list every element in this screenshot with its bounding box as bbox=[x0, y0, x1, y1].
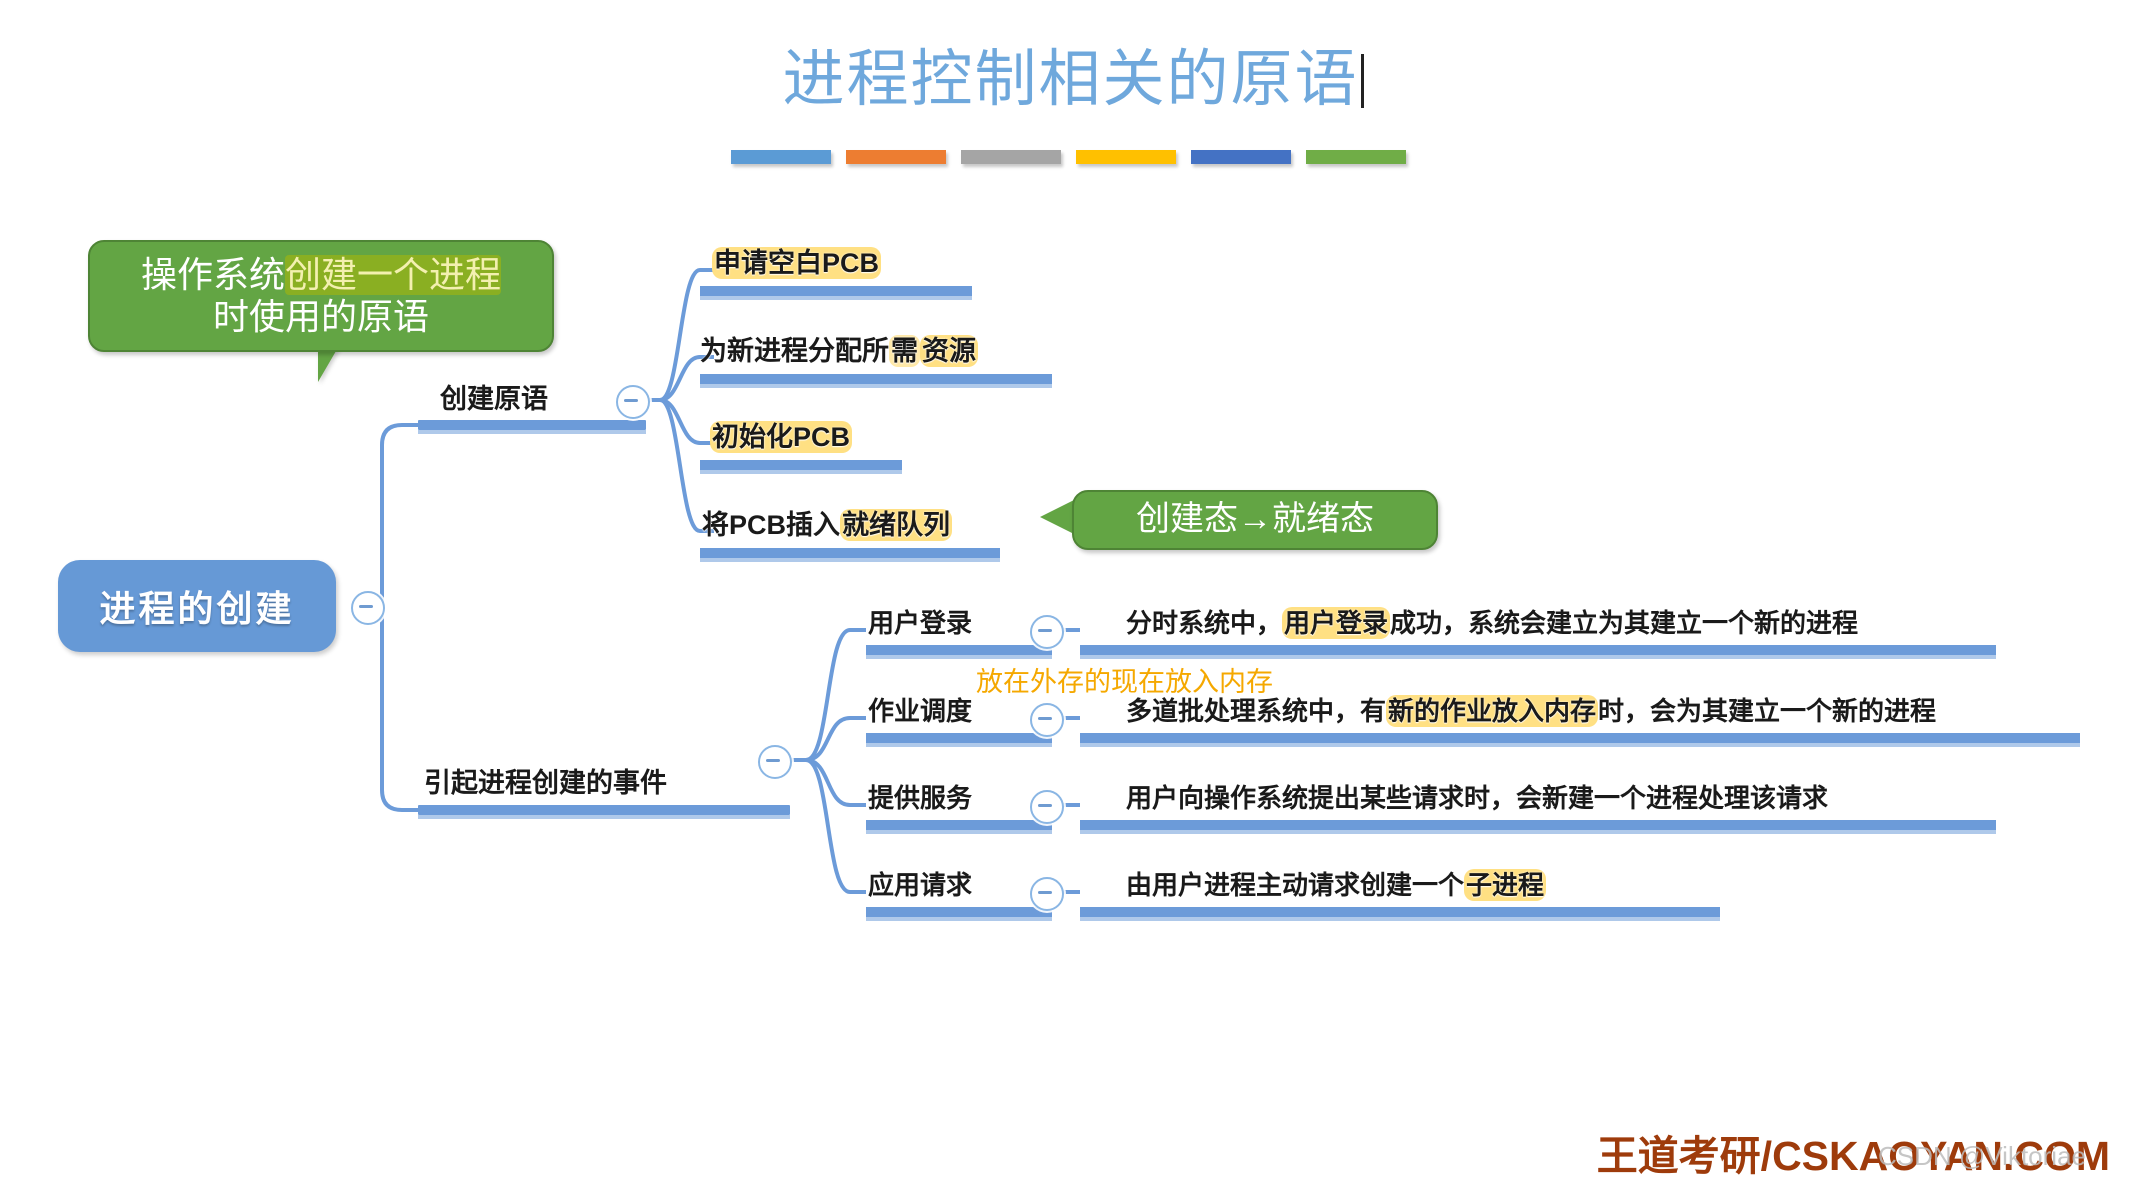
leaf-init-pcb[interactable]: 初始化PCB bbox=[710, 424, 852, 451]
desc-provide-service[interactable]: 用户向操作系统提出某些请求时，会新建一个进程处理该请求 bbox=[1126, 785, 1828, 811]
callout-state-transition-text: 创建态→就绪态 bbox=[1136, 500, 1374, 540]
root-node[interactable]: 进程的创建 bbox=[58, 560, 336, 652]
desc-user-login-prefix: 分时系统中， bbox=[1126, 608, 1282, 638]
leaf-insert-ready-queue-prefix: 将PCB插入 bbox=[702, 510, 840, 540]
branch-creation-events-label[interactable]: 引起进程创建的事件 bbox=[424, 770, 667, 797]
leaf-provide-service-toggle[interactable] bbox=[1030, 790, 1064, 824]
desc-provide-service-text: 用户向操作系统提出某些请求时，会新建一个进程处理该请求 bbox=[1126, 783, 1828, 813]
csdn-watermark: CSDN @Viktoriae bbox=[1878, 1141, 2086, 1172]
leaf-application-request-label[interactable]: 应用请求 bbox=[868, 872, 972, 898]
leaf-allocate-resources-soft: 需 bbox=[889, 335, 920, 367]
desc-application-request[interactable]: 由用户进程主动请求创建一个子进程 bbox=[1126, 872, 1546, 898]
slide-canvas: 进程控制相关的原语 bbox=[0, 0, 2146, 1196]
leaf-allocate-resources-mark: 资源 bbox=[920, 335, 978, 367]
branch-create-primitive-label[interactable]: 创建原语 bbox=[440, 386, 548, 413]
desc-user-login-suffix: 成功，系统会建立为其建立一个新的进程 bbox=[1390, 608, 1858, 638]
root-collapse-toggle[interactable] bbox=[351, 591, 385, 625]
branch-create-primitive-toggle[interactable] bbox=[616, 385, 650, 419]
leaf-user-login-toggle[interactable] bbox=[1030, 615, 1064, 649]
callout-create-primitive: 操作系统创建一个进程 时使用的原语 bbox=[88, 240, 554, 352]
leaf-insert-ready-queue-mark: 就绪队列 bbox=[840, 509, 952, 541]
desc-user-login[interactable]: 分时系统中，用户登录成功，系统会建立为其建立一个新的进程 bbox=[1126, 610, 1858, 636]
desc-user-login-mark: 用户登录 bbox=[1282, 607, 1390, 639]
leaf-apply-blank-pcb-text: 申请空白PCB bbox=[712, 247, 881, 279]
leaf-allocate-resources-prefix: 为新进程分配所 bbox=[700, 336, 889, 366]
annotation-memory-note: 放在外存的现在放入内存 bbox=[976, 660, 1273, 699]
callout-create-primitive-line1-mark: 创建一个进程 bbox=[285, 255, 501, 295]
leaf-provide-service-label[interactable]: 提供服务 bbox=[868, 785, 972, 811]
callout-state-transition-tail bbox=[1040, 500, 1074, 534]
desc-job-scheduling-suffix: 时，会为其建立一个新的进程 bbox=[1598, 696, 1936, 726]
leaf-init-pcb-text: 初始化PCB bbox=[710, 421, 852, 453]
desc-application-request-prefix: 由用户进程主动请求创建一个 bbox=[1126, 870, 1464, 900]
leaf-user-login-label[interactable]: 用户登录 bbox=[868, 610, 972, 636]
leaf-application-request-toggle[interactable] bbox=[1030, 877, 1064, 911]
root-node-label: 进程的创建 bbox=[99, 580, 294, 632]
leaf-insert-ready-queue[interactable]: 将PCB插入就绪队列 bbox=[702, 512, 952, 539]
leaf-job-scheduling-toggle[interactable] bbox=[1030, 703, 1064, 737]
desc-application-request-mark: 子进程 bbox=[1464, 869, 1546, 901]
callout-create-primitive-line2: 时使用的原语 bbox=[213, 296, 429, 338]
desc-job-scheduling[interactable]: 多道批处理系统中，有新的作业放入内存时，会为其建立一个新的进程 bbox=[1126, 698, 1936, 724]
callout-state-transition: 创建态→就绪态 bbox=[1072, 490, 1438, 550]
desc-job-scheduling-mark: 新的作业放入内存 bbox=[1386, 695, 1598, 727]
callout-create-primitive-line1-plain: 操作系统 bbox=[141, 255, 285, 295]
branch-creation-events-toggle[interactable] bbox=[758, 745, 792, 779]
leaf-apply-blank-pcb[interactable]: 申请空白PCB bbox=[712, 250, 881, 277]
leaf-allocate-resources[interactable]: 为新进程分配所需资源 bbox=[700, 338, 978, 365]
callout-create-primitive-line1: 操作系统创建一个进程 bbox=[141, 254, 501, 296]
desc-job-scheduling-prefix: 多道批处理系统中，有 bbox=[1126, 696, 1386, 726]
leaf-job-scheduling-label[interactable]: 作业调度 bbox=[868, 698, 972, 724]
